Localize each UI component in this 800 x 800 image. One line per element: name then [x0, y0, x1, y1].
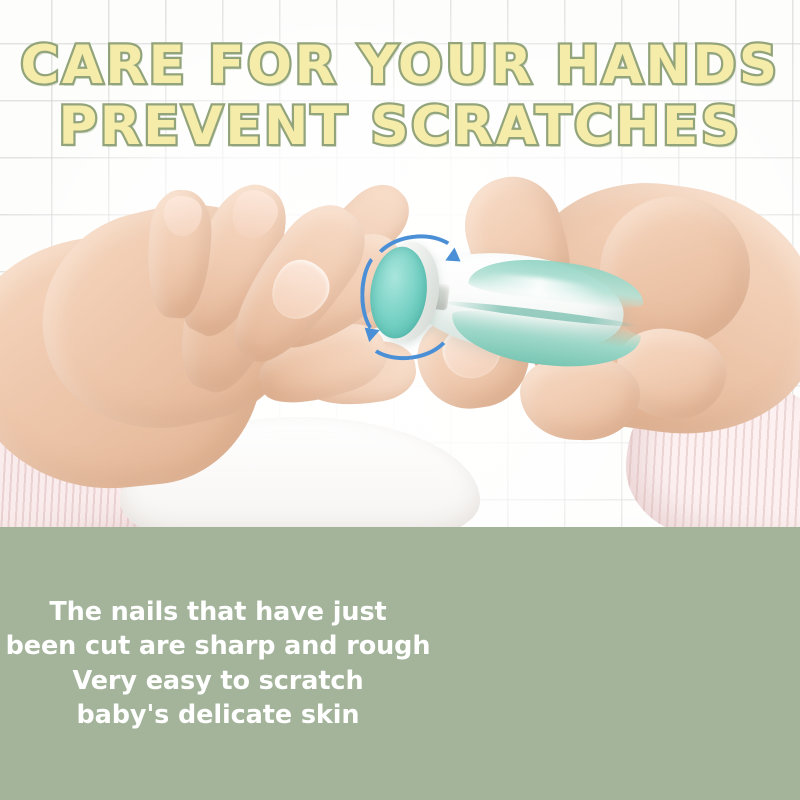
body-copy-line-1: The nails that have just: [49, 596, 386, 628]
index-nail: [224, 183, 285, 245]
body-copy-line-4: baby's delicate skin: [77, 699, 360, 731]
top-nail: [162, 195, 203, 238]
headline-line-1: CARE FOR YOUR HANDS: [0, 40, 800, 92]
headline-line-2: PREVENT SCRATCHES: [0, 101, 800, 153]
product-hero-scene: CARE FOR YOUR HANDS PREVENT SCRATCHES: [0, 0, 800, 527]
product-marketing-poster: CARE FOR YOUR HANDS PREVENT SCRATCHES Th…: [0, 0, 800, 800]
body-copy-line-2: been cut are sharp and rough: [6, 630, 431, 662]
body-copy-block: The nails that have just been cut are sh…: [18, 527, 418, 800]
headline: CARE FOR YOUR HANDS PREVENT SCRATCHES: [0, 40, 800, 153]
body-copy-line-3: Very easy to scratch: [72, 665, 363, 697]
bottom-green-panel: The nails that have just been cut are sh…: [0, 527, 800, 800]
polishing-disc-assembly: [357, 233, 461, 351]
